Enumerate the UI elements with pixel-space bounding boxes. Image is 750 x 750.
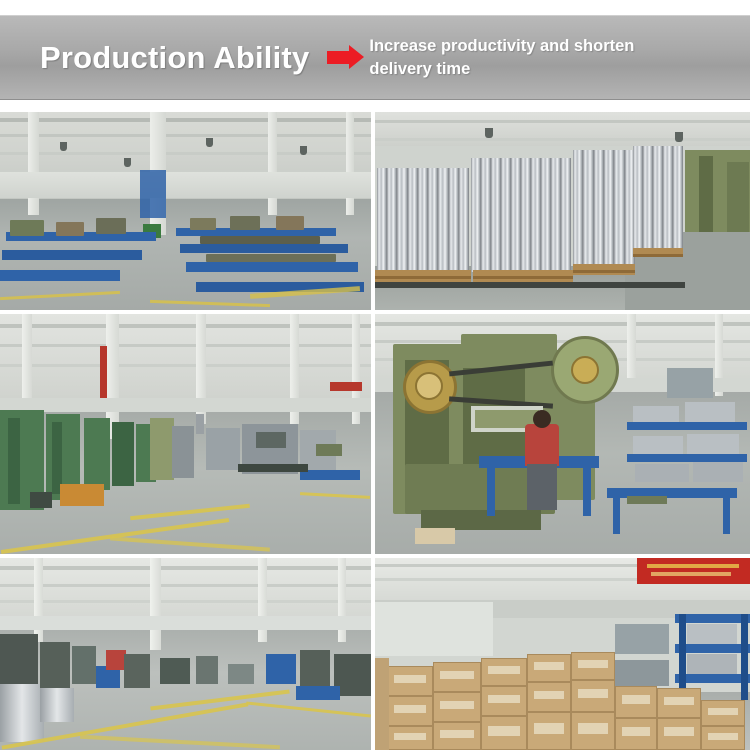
photo-metal-cylinders: Stacks of polished metal cylinder tubes … [375,112,750,310]
photo-grid: Assembly hall with rows of blue workbenc… [0,112,750,750]
photo-punch-press-worker: Worker in red shirt operating a large gr… [375,314,750,554]
photo-press-shop-scene [0,314,371,554]
banner-subtitle: Increase productivity and shorten delive… [369,35,659,80]
photo-workshop-aisle: Wide workshop aisle with yellow floor li… [0,558,371,750]
header-banner: Production Ability Increase productivity… [0,15,750,100]
photo-assembly-hall: Assembly hall with rows of blue workbenc… [0,112,371,310]
production-ability-banner-page: Production Ability Increase productivity… [0,0,750,750]
right-arrow-icon [327,51,349,64]
photo-metal-cylinders-scene [375,112,750,310]
photo-workshop-aisle-scene [0,558,371,750]
page-title: Production Ability [40,40,309,76]
photo-punch-press-worker-scene [375,314,750,554]
photo-carton-warehouse-scene [375,558,750,750]
photo-carton-warehouse: Warehouse with rows of stacked cardboard… [375,558,750,750]
photo-assembly-hall-scene [0,112,371,310]
photo-press-shop: Press shop with green hydraulic presses … [0,314,371,554]
